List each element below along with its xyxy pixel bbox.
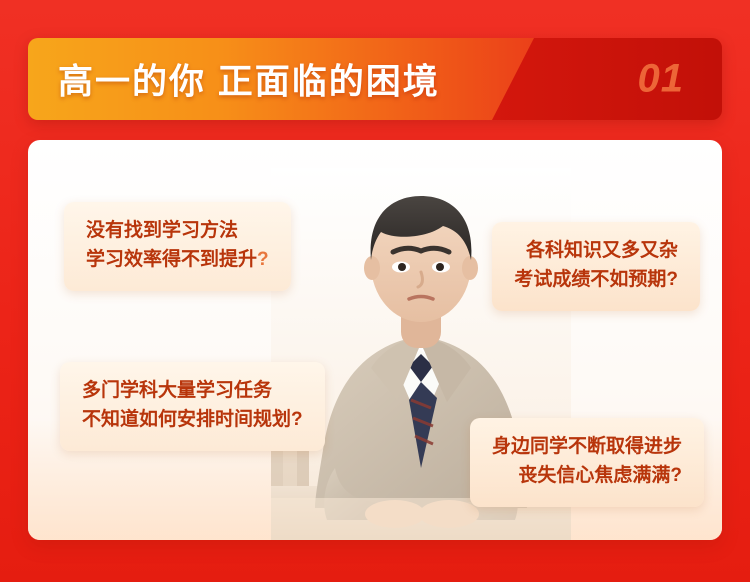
bubble-study-method-line1: 没有找到学习方法 xyxy=(86,220,238,241)
bubble-study-method-line2: 学习效率得不到提升? xyxy=(86,245,269,274)
content-card: 没有找到学习方法 学习效率得不到提升? 各科知识又多又杂 考试成绩不如预期? 多… xyxy=(28,140,722,540)
bubble-subject-knowledge: 各科知识又多又杂 考试成绩不如预期? xyxy=(492,222,700,311)
bubble-subject-knowledge-question-mark: ? xyxy=(666,269,678,290)
bubble-study-method: 没有找到学习方法 学习效率得不到提升? xyxy=(64,202,291,291)
bubble-peer-pressure: 身边同学不断取得进步 丧失信心焦虑满满? xyxy=(470,418,704,507)
bubble-subject-knowledge-line2: 考试成绩不如预期? xyxy=(514,265,678,294)
bubble-time-planning: 多门学科大量学习任务 不知道如何安排时间规划? xyxy=(60,362,325,451)
bubble-subject-knowledge-line1: 各科知识又多又杂 xyxy=(526,240,678,261)
bubble-study-method-question-mark: ? xyxy=(257,249,269,270)
bubble-time-planning-question-mark: ? xyxy=(291,409,303,430)
bubble-time-planning-line2: 不知道如何安排时间规划? xyxy=(82,405,303,434)
bubble-time-planning-line1: 多门学科大量学习任务 xyxy=(82,380,272,401)
poster-root: 高一的你 正面临的困境 01 xyxy=(0,0,750,582)
bubble-peer-pressure-question-mark: ? xyxy=(670,465,682,486)
bubble-peer-pressure-line2: 丧失信心焦虑满满? xyxy=(492,461,682,490)
page-title: 高一的你 正面临的困境 xyxy=(58,54,440,105)
header-banner: 高一的你 正面临的困境 01 xyxy=(28,38,722,120)
bubble-peer-pressure-line1: 身边同学不断取得进步 xyxy=(492,436,682,457)
section-number: 01 xyxy=(638,57,685,102)
